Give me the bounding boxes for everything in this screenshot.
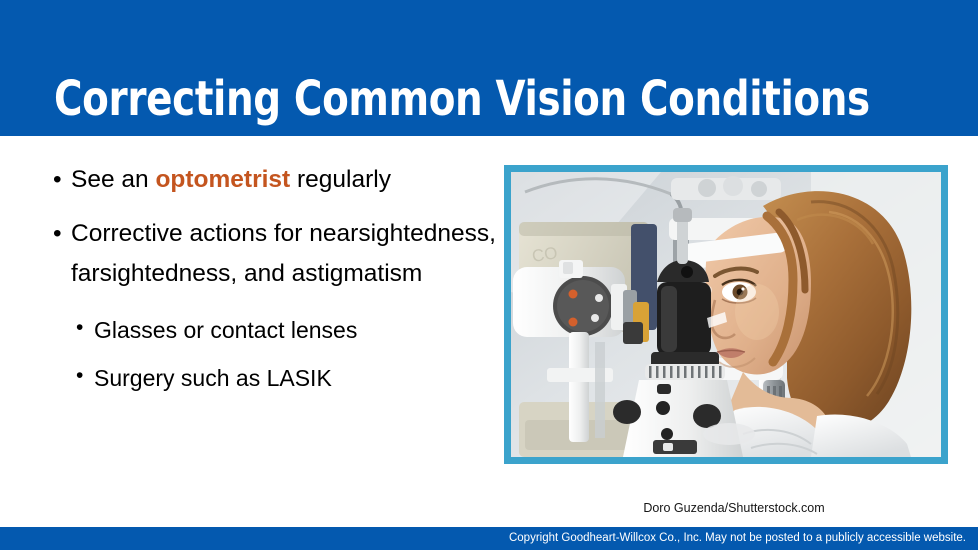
list-item: • Surgery such as LASIK <box>48 356 500 400</box>
list-item-text: Glasses or contact lenses <box>94 317 357 343</box>
page-title: Correcting Common Vision Conditions <box>54 72 846 126</box>
bullet-dot-icon: • <box>53 214 62 254</box>
slide-image: CO <box>511 172 941 457</box>
bullet-dot-icon: • <box>76 308 83 348</box>
list-item: • Glasses or contact lenses <box>48 308 500 352</box>
list-item: • See an optometrist regularly <box>48 160 500 200</box>
sub-bullet-list: • Glasses or contact lenses • Surgery su… <box>48 308 500 400</box>
presentation-slide: Correcting Common Vision Conditions • Se… <box>0 0 978 550</box>
bullet-dot-icon: • <box>76 356 83 396</box>
list-item-text: Surgery such as LASIK <box>94 365 332 391</box>
svg-text:CO: CO <box>531 243 559 266</box>
bullet-dot-icon: • <box>53 160 62 200</box>
highlight-term: optometrist <box>155 166 290 193</box>
list-item-text: Corrective actions for nearsightedness, … <box>71 220 496 287</box>
slide-image-frame: CO <box>504 165 948 464</box>
eye-exam-photo-illustration: CO <box>511 172 941 457</box>
list-item-text-part: See an <box>71 166 155 193</box>
bullet-list: • See an optometrist regularly • Correct… <box>48 160 500 404</box>
image-credit: Doro Guzenda/Shutterstock.com <box>534 500 934 516</box>
copyright-notice: Copyright Goodheart-Willcox Co., Inc. Ma… <box>509 529 966 548</box>
list-item-text-part: regularly <box>290 166 391 193</box>
list-item: • Corrective actions for nearsightedness… <box>48 214 500 294</box>
